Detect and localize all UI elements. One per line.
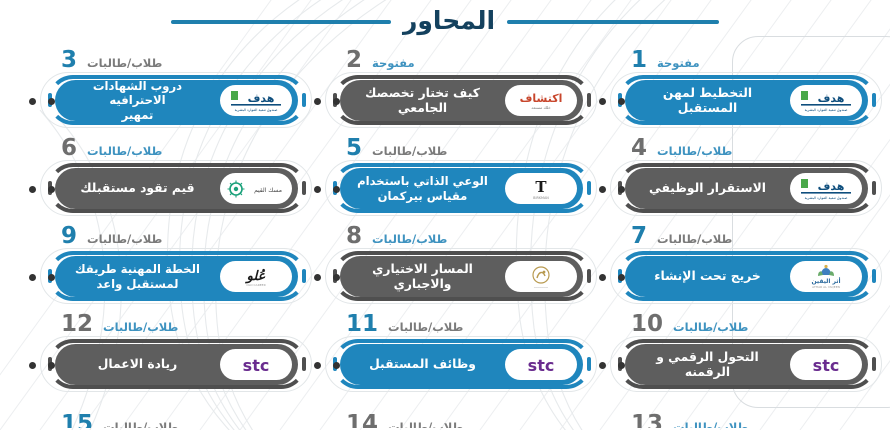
svg-text:stc: stc (528, 356, 555, 375)
card-title-1: التخطيط لمهن المستقبل (635, 86, 782, 116)
connector-dots-7 (599, 272, 625, 282)
card-title-5: الوعي الذاتي باستخدام مقياس بيركمان (350, 174, 497, 202)
card-audience-2: مفتوحة (372, 58, 415, 73)
card-audience-12: طلاب/طالبات (103, 322, 178, 337)
card-header-1: 1 مفتوحة (631, 46, 872, 72)
header-rule-left (171, 20, 391, 24)
card-number-12: 12 (61, 313, 93, 336)
card-title-3: دروب الشهادات الاحترافيه تمهير (65, 79, 212, 121)
card-header-2: 2 مفتوحة (346, 46, 587, 72)
card-header-4: 4 طلاب/طالبات (631, 134, 872, 160)
card-pill-2[interactable]: اكتشاف خلك مستعد كيف تختار تخصصك الجامعي (340, 80, 583, 121)
svg-text:عُلو: عُلو (245, 268, 266, 284)
card-number-3: 3 (61, 49, 77, 72)
card-pill-5[interactable]: T BIRKMAN الوعي الذاتي باستخدام مقياس بي… (340, 168, 583, 209)
axes-row-5: 13 طلاب/طالبات 14 طلاب/طالبات 15 طلاب/طا… (0, 398, 890, 428)
connector-dots-2 (314, 96, 340, 106)
ektishaf-logo-icon: اكتشاف خلك مستعد (505, 85, 577, 116)
card-header-15: 15 طلاب/طالبات (61, 410, 302, 428)
card-number-5: 5 (346, 137, 362, 160)
card-audience-11: طلاب/طالبات (388, 322, 463, 337)
axes-row-4: 10 طلاب/طالبات stc التحول الرقمي و الرقم… (0, 310, 890, 398)
card-title-6: قيم تقود مستقبلك (65, 181, 212, 196)
card-header-11: 11 طلاب/طالبات (346, 310, 587, 336)
svg-text:OLO CAREER: OLO CAREER (246, 283, 265, 287)
connector-dots-11 (314, 360, 340, 370)
card-audience-1: مفتوحة (657, 58, 700, 73)
card-audience-9: طلاب/طالبات (87, 234, 162, 249)
axis-card-5[interactable]: 5 طلاب/طالبات T BIRKMAN الوعي الذاتي باس… (320, 134, 605, 222)
axis-card-9[interactable]: 9 طلاب/طالبات عُلو OLO CAREER الخطة المه… (35, 222, 320, 310)
svg-text:BIRKMAN: BIRKMAN (533, 196, 549, 200)
card-audience-3: طلاب/طالبات (87, 58, 162, 73)
card-title-2: كيف تختار تخصصك الجامعي (350, 86, 497, 116)
axes-row-2: 4 طلاب/طالبات هدف صندوق تنمية الموارد ال… (0, 134, 890, 222)
card-header-9: 9 طلاب/طالبات (61, 222, 302, 248)
svg-text:T: T (535, 178, 547, 196)
card-title-12: ريادة الاعمال (65, 357, 212, 372)
svg-text:اكتشاف: اكتشاف (520, 92, 563, 105)
card-pill-10[interactable]: stc التحول الرقمي و الرقمنه (625, 344, 868, 385)
axis-card-15[interactable]: 15 طلاب/طالبات (35, 398, 320, 428)
card-number-2: 2 (346, 49, 362, 72)
svg-text:صندوق تنمية الموارد البشرية: صندوق تنمية الموارد البشرية (805, 108, 848, 112)
axis-card-6[interactable]: 6 طلاب/طالبات (35, 134, 320, 222)
stc-logo-icon: stc (505, 349, 577, 380)
connector-dots-1 (599, 96, 625, 106)
svg-text:هدف: هدف (248, 92, 275, 105)
axes-row-1: 1 مفتوحة هدف صندوق تنمية الموارد البشرية… (0, 46, 890, 134)
card-pill-3[interactable]: هدف صندوق تنمية الموارد البشرية دروب الش… (55, 80, 298, 121)
card-audience-15: طلاب/طالبات (103, 422, 178, 429)
hrdf-logo-icon: هدف صندوق تنمية الموارد البشرية (220, 85, 292, 116)
card-audience-6: طلاب/طالبات (87, 146, 162, 161)
card-header-7: 7 طلاب/طالبات (631, 222, 872, 248)
card-title-8: المسار الاختياري والاجباري (350, 262, 497, 292)
card-number-4: 4 (631, 137, 647, 160)
card-pill-8[interactable]: ـــــــــــــــ المسار الاختياري والاجبا… (340, 256, 583, 297)
svg-text:stc: stc (243, 356, 270, 375)
connector-dots-4 (599, 184, 625, 194)
axis-card-13[interactable]: 13 طلاب/طالبات (605, 398, 890, 428)
card-pill-7[interactable]: أثر اليقين ATHAR AL YAQEEN خريج تحت الإن… (625, 256, 868, 297)
card-audience-10: طلاب/طالبات (673, 322, 748, 337)
section-header: المحاور (0, 0, 890, 44)
svg-text:هدف: هدف (818, 92, 845, 105)
card-number-7: 7 (631, 225, 647, 248)
card-header-13: 13 طلاب/طالبات (631, 410, 872, 428)
card-number-13: 13 (631, 413, 663, 428)
card-title-11: وظائف المستقبل (350, 357, 497, 372)
card-number-15: 15 (61, 413, 93, 428)
hrdf-logo-icon: هدف صندوق تنمية الموارد البشرية (790, 173, 862, 204)
card-pill-1[interactable]: هدف صندوق تنمية الموارد البشرية التخطيط … (625, 80, 868, 121)
card-header-3: 3 طلاب/طالبات (61, 46, 302, 72)
header-rule-right (507, 20, 719, 24)
svg-text:خلك مستعد: خلك مستعد (531, 105, 551, 110)
card-pill-9[interactable]: عُلو OLO CAREER الخطة المهنية طريقك لمست… (55, 256, 298, 297)
stc-logo-icon: stc (220, 349, 292, 380)
svg-text:صندوق تنمية الموارد البشرية: صندوق تنمية الموارد البشرية (235, 108, 278, 112)
connector-dots-9 (29, 272, 55, 282)
axis-card-1[interactable]: 1 مفتوحة هدف صندوق تنمية الموارد البشرية… (605, 46, 890, 134)
card-number-9: 9 (61, 225, 77, 248)
axis-card-10[interactable]: 10 طلاب/طالبات stc التحول الرقمي و الرقم… (605, 310, 890, 398)
card-audience-7: طلاب/طالبات (657, 234, 732, 249)
card-audience-8: طلاب/طالبات (372, 234, 447, 249)
birkman-logo-icon: T BIRKMAN (505, 173, 577, 204)
card-number-11: 11 (346, 313, 378, 336)
axis-card-7[interactable]: 7 طلاب/طالبات أثر اليقين ATHAR AL (605, 222, 890, 310)
svg-text:stc: stc (813, 356, 840, 375)
axis-card-11[interactable]: 11 طلاب/طالبات stc وظائف المستقبل (320, 310, 605, 398)
svg-text:صندوق تنمية الموارد البشرية: صندوق تنمية الموارد البشرية (805, 196, 848, 200)
card-title-4: الاستقرار الوظيفي (635, 181, 782, 196)
card-title-7: خريج تحت الإنشاء (635, 269, 782, 284)
axis-card-4[interactable]: 4 طلاب/طالبات هدف صندوق تنمية الموارد ال… (605, 134, 890, 222)
stc-logo-icon: stc (790, 349, 862, 380)
card-number-8: 8 (346, 225, 362, 248)
axis-card-14[interactable]: 14 طلاب/طالبات (320, 398, 605, 428)
card-audience-13: طلاب/طالبات (673, 422, 748, 429)
athar-logo-icon: أثر اليقين ATHAR AL YAQEEN (790, 261, 862, 292)
card-pill-6[interactable]: مسك القيم قيم تقود مستقبلك (55, 168, 298, 209)
card-header-5: 5 طلاب/طالبات (346, 134, 587, 160)
page-title: المحاور (403, 8, 495, 36)
card-header-10: 10 طلاب/طالبات (631, 310, 872, 336)
card-pill-11[interactable]: stc وظائف المستقبل (340, 344, 583, 385)
axes-row-3: 7 طلاب/طالبات أثر اليقين ATHAR AL (0, 222, 890, 310)
axis-card-8[interactable]: 8 طلاب/طالبات ـــــــــــــــ الم (320, 222, 605, 310)
card-audience-14: طلاب/طالبات (388, 422, 463, 429)
card-header-14: 14 طلاب/طالبات (346, 410, 587, 428)
card-header-12: 12 طلاب/طالبات (61, 310, 302, 336)
hrdf-logo-icon: هدف صندوق تنمية الموارد البشرية (790, 85, 862, 116)
card-title-10: التحول الرقمي و الرقمنه (635, 350, 782, 380)
connector-dots-5 (314, 184, 340, 194)
card-number-1: 1 (631, 49, 647, 72)
connector-dots-10 (599, 360, 625, 370)
svg-text:هدف: هدف (818, 180, 845, 193)
axis-card-3[interactable]: 3 طلاب/طالبات هدف صندوق تنمية الموارد ال… (35, 46, 320, 134)
misk-alqiyam-logo-icon: مسك القيم (220, 173, 292, 204)
axis-card-2[interactable]: 2 مفتوحة اكتشاف خلك مستعد كيف تختار تخصص… (320, 46, 605, 134)
card-header-6: 6 طلاب/طالبات (61, 134, 302, 160)
connector-dots-8 (314, 272, 340, 282)
svg-text:ATHAR AL YAQEEN: ATHAR AL YAQEEN (812, 285, 840, 289)
connector-dots-6 (29, 184, 55, 194)
connector-dots-12 (29, 360, 55, 370)
card-title-9: الخطة المهنية طريقك لمستقبل واعد (65, 262, 212, 290)
svg-text:مسك القيم: مسك القيم (254, 187, 282, 194)
card-number-14: 14 (346, 413, 378, 428)
svg-text:ـــــــــــــــ: ـــــــــــــــ (533, 285, 548, 289)
connector-dots-3 (29, 96, 55, 106)
card-pill-4[interactable]: هدف صندوق تنمية الموارد البشرية الاستقرا… (625, 168, 868, 209)
card-audience-5: طلاب/طالبات (372, 146, 447, 161)
circle-emblem-logo-icon: ـــــــــــــــ (505, 261, 577, 292)
card-number-6: 6 (61, 137, 77, 160)
axis-card-12[interactable]: 12 طلاب/طالبات stc ريادة الاعمال (35, 310, 320, 398)
olo-logo-icon: عُلو OLO CAREER (220, 261, 292, 292)
card-number-10: 10 (631, 313, 663, 336)
svg-text:أثر اليقين: أثر اليقين (811, 277, 840, 285)
axes-grid: 1 مفتوحة هدف صندوق تنمية الموارد البشرية… (0, 46, 890, 428)
card-pill-12[interactable]: stc ريادة الاعمال (55, 344, 298, 385)
card-audience-4: طلاب/طالبات (657, 146, 732, 161)
card-header-8: 8 طلاب/طالبات (346, 222, 587, 248)
